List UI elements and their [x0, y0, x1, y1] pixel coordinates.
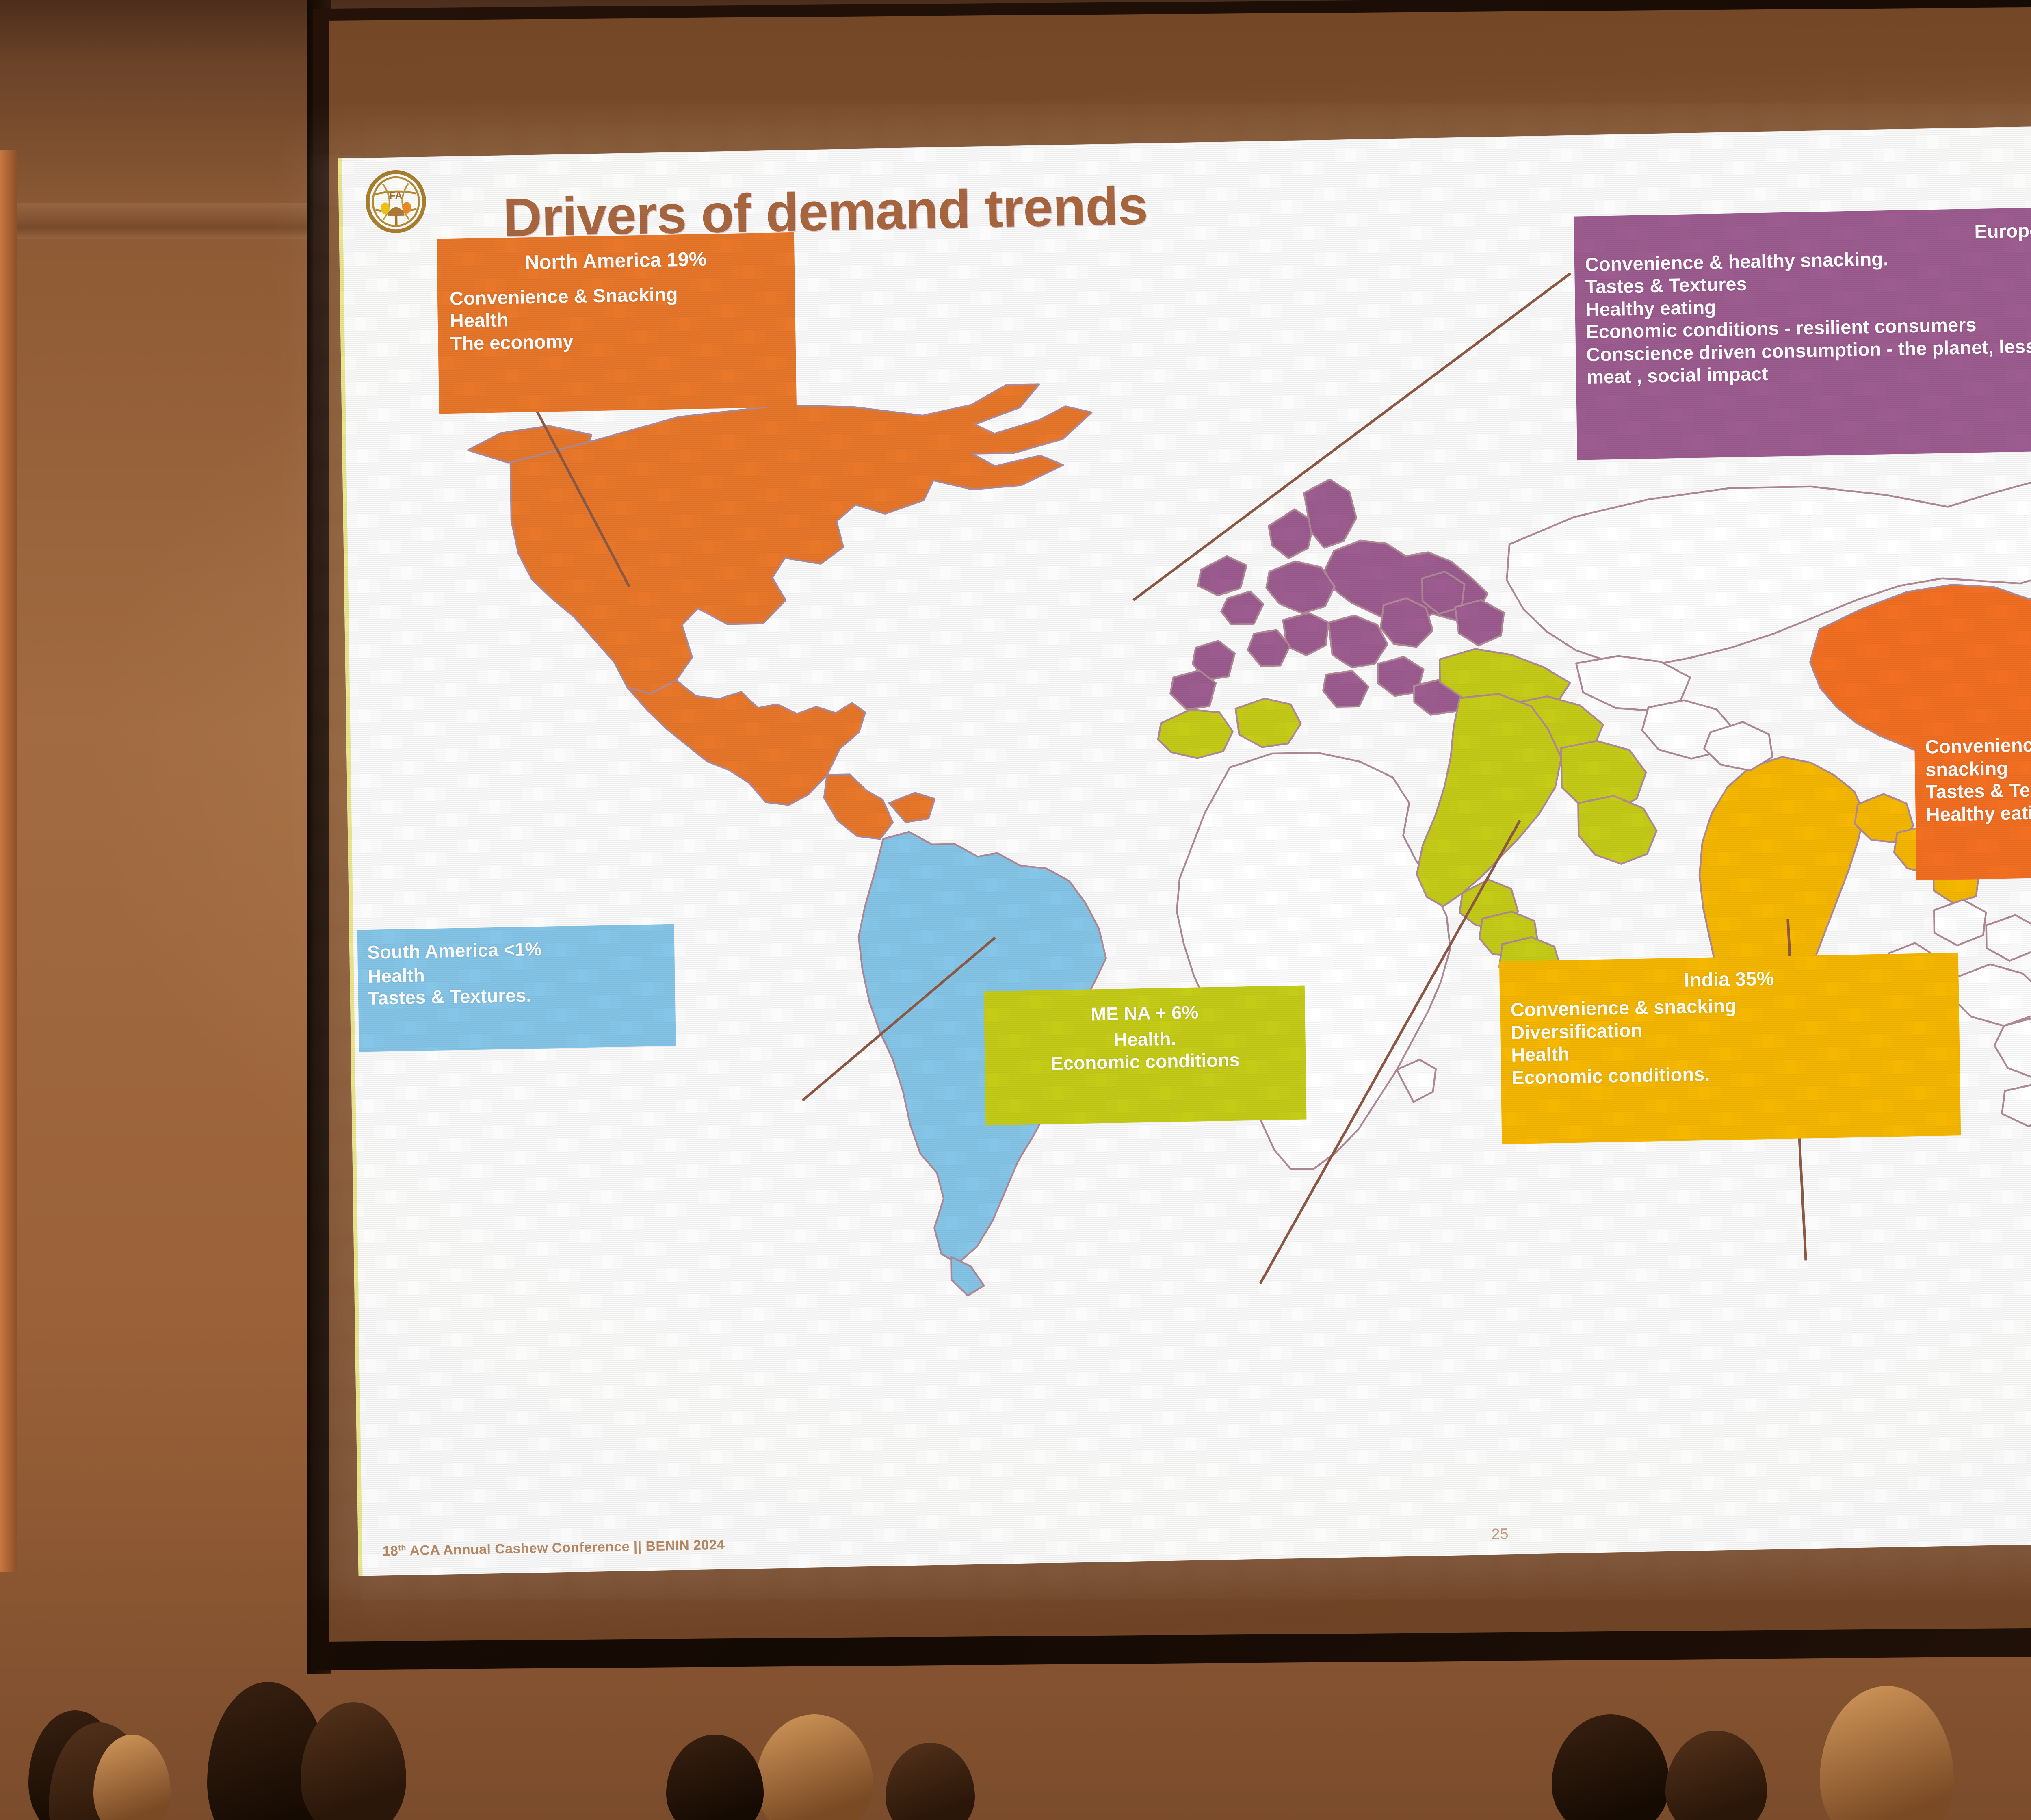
callout-india[interactable]: India 35% Convenience & snacking Diversi… [1499, 953, 1961, 1144]
callout-heading-india: India 35% [1510, 964, 1948, 996]
wall-pillar-left [0, 150, 17, 1572]
audience-head [301, 1702, 406, 1820]
audience-head [756, 1714, 873, 1820]
callout-line: Convenience & [1925, 729, 2031, 758]
audience-head [1820, 1686, 1954, 1820]
audience-head [886, 1743, 975, 1820]
photo-of-projected-slide: FA Drivers of demand trends ACA [0, 0, 2031, 1820]
callout-china[interactable]: China 10% Convenience & snacking Tastes … [1914, 691, 2031, 880]
audience-head [666, 1735, 764, 1820]
callout-me-na[interactable]: ME NA + 6% Health. Economic conditions [984, 986, 1307, 1126]
callout-heading-north-america: North America 19% [449, 246, 782, 276]
map-region-north-america [467, 383, 1098, 847]
presentation-slide: FA Drivers of demand trends ACA [338, 117, 2031, 1576]
callout-heading-me-na: ME NA + 6% [993, 999, 1296, 1027]
callout-heading-china: China 10% [1925, 703, 2031, 732]
callout-heading-europe: Europe 20% [1585, 211, 2031, 250]
audience-silhouettes [0, 1568, 2031, 1820]
svg-text:FA: FA [389, 190, 403, 202]
audience-head [1665, 1731, 1767, 1820]
callout-south-america[interactable]: South America <1% Health Tastes & Textur… [357, 924, 676, 1052]
footer-rest: ACA Annual Cashew Conference || BENIN 20… [406, 1537, 725, 1559]
callout-heading-south-america: South America <1% [367, 936, 665, 963]
fao-emblem-icon: FA [363, 169, 428, 234]
callout-north-america[interactable]: North America 19% Convenience & Snacking… [437, 232, 797, 414]
slide-footer: 18th ACA Annual Cashew Conference || BEN… [382, 1537, 725, 1560]
footer-superscript: th [398, 1543, 406, 1552]
audience-head [1552, 1714, 1669, 1820]
footer-prefix: 18 [382, 1543, 398, 1559]
slide-page-number: 25 [1491, 1525, 1509, 1543]
callout-europe[interactable]: Europe 20% Convenience & healthy snackin… [1574, 199, 2031, 460]
